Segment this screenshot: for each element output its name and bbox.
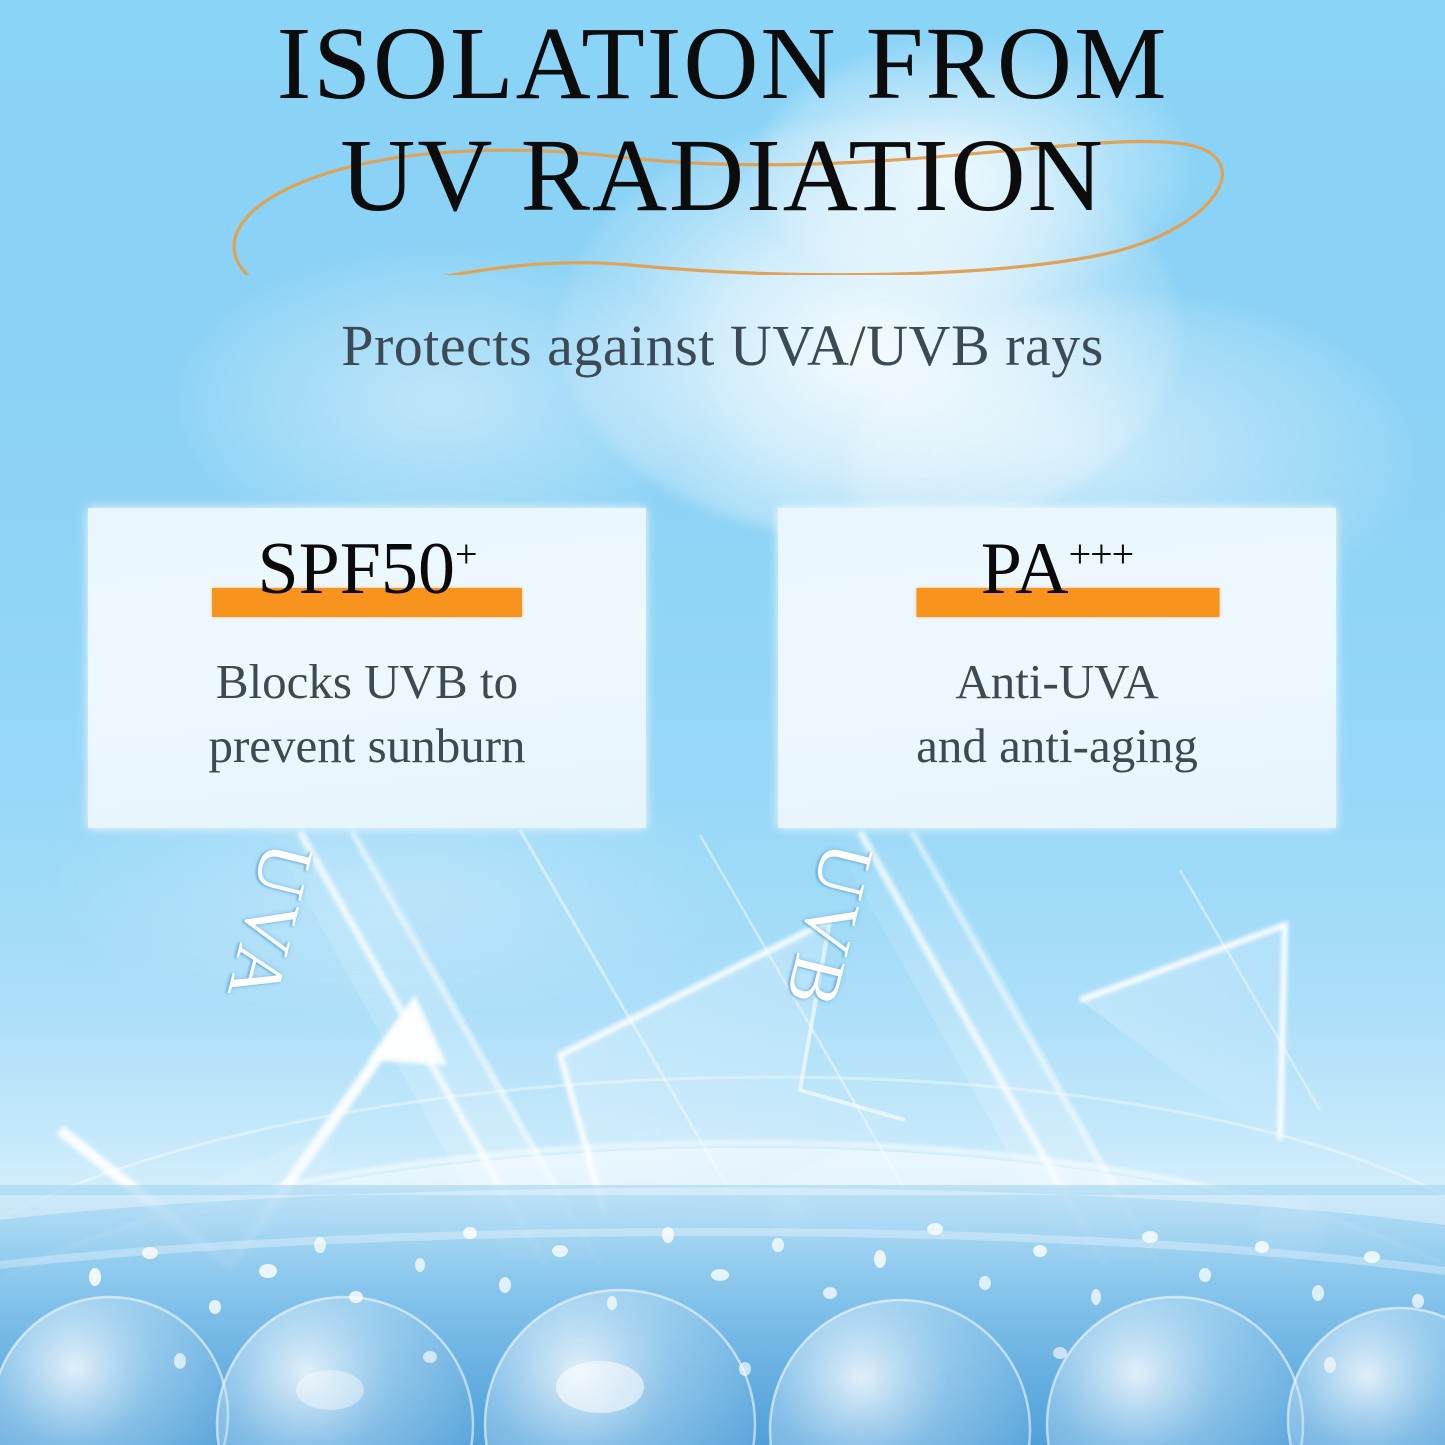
- page-title: ISOLATION FROM UV RADIATION: [0, 8, 1445, 233]
- ray-streaks: [520, 830, 1320, 1200]
- protective-dome: [0, 1077, 1445, 1445]
- badge-label-spf: SPF50+: [257, 532, 476, 606]
- water-droplets: [89, 1223, 1424, 1376]
- card-description-pa: Anti-UVA and anti-aging: [890, 650, 1224, 777]
- ray-label-uvb: UVB: [767, 834, 890, 1018]
- cloud-shape-left: [180, 250, 700, 550]
- headline-line-1: ISOLATION FROM: [0, 8, 1445, 120]
- card-desc-line-1: Blocks UVB to: [208, 650, 525, 714]
- ray-label-uva: UVA: [208, 834, 330, 1013]
- reflection-arrow-mid-left: [130, 1130, 330, 1300]
- headline-line-2: UV RADIATION: [0, 120, 1445, 232]
- reflection-arrow-small-left: [60, 995, 447, 1265]
- feature-card-spf: SPF50+ Blocks UVB to prevent sunburn: [88, 508, 646, 828]
- badge-superscript: +: [455, 531, 477, 576]
- uva-beam: [268, 830, 600, 1265]
- bubble-row: [0, 1290, 1445, 1445]
- page-subtitle: Protects against UVA/UVB rays: [0, 312, 1445, 379]
- card-description-spf: Blocks UVB to prevent sunburn: [182, 650, 551, 777]
- badge-spf: SPF50+: [88, 532, 646, 636]
- card-desc-line-2: prevent sunburn: [208, 714, 525, 778]
- badge-main-text: SPF50: [257, 528, 454, 610]
- feature-card-group: SPF50+ Blocks UVB to prevent sunburn PA+…: [88, 508, 1336, 828]
- sun-flare-sparkle: [768, 1150, 1392, 1312]
- feature-card-pa: PA+++ Anti-UVA and anti-aging: [778, 508, 1336, 828]
- badge-main-text: PA: [981, 528, 1069, 610]
- card-desc-line-1: Anti-UVA: [916, 650, 1198, 714]
- reflection-arrow-right: [1080, 925, 1285, 1140]
- uvb-beam: [828, 830, 1160, 1265]
- water-gel-bubbles: [0, 1125, 1445, 1445]
- uv-protection-poster: ISOLATION FROM UV RADIATION Protects aga…: [0, 0, 1445, 1445]
- badge-label-pa: PA+++: [981, 532, 1134, 606]
- badge-superscript: +++: [1069, 531, 1134, 576]
- reflection-arrow-center: [560, 920, 905, 1245]
- badge-pa: PA+++: [778, 532, 1336, 636]
- card-desc-line-2: and anti-aging: [916, 714, 1198, 778]
